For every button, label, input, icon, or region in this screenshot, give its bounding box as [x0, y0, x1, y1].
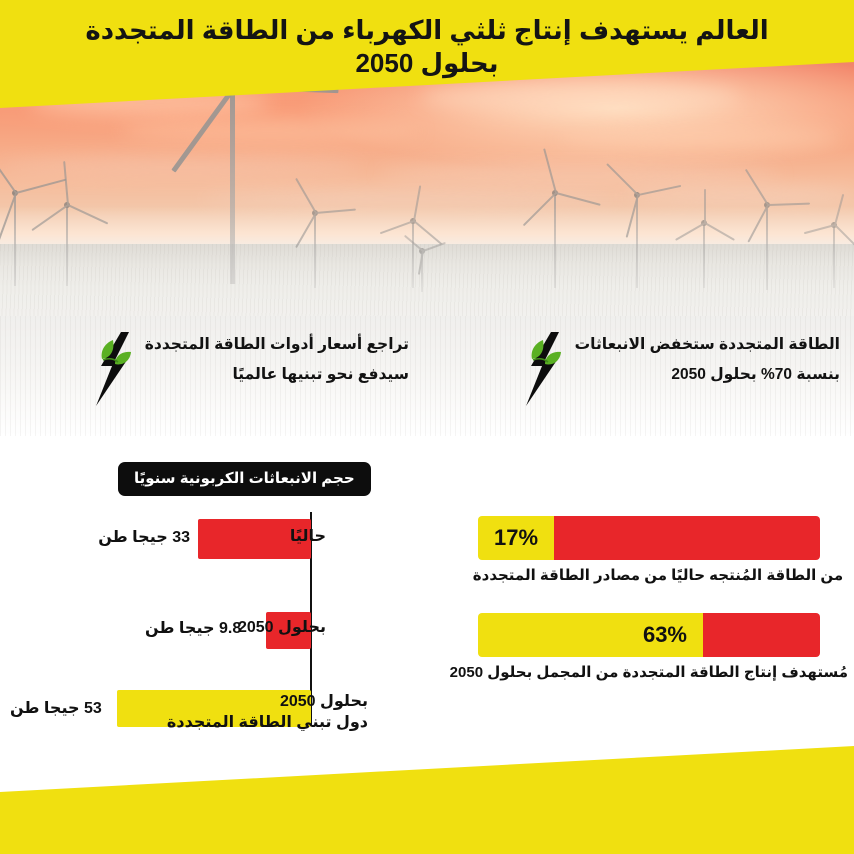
statement-falling-prices: تراجع أسعار أدوات الطاقة المتجددة سيدفع … — [0, 330, 427, 430]
percent-bar-fill: 63% — [478, 613, 703, 657]
emissions-chart-title-pill: حجم الانبعاثات الكربونية سنويًا — [118, 462, 371, 496]
statement-text: تراجع أسعار أدوات الطاقة المتجددة سيدفع … — [145, 330, 409, 390]
wind-turbine — [408, 218, 417, 288]
cloud — [560, 128, 840, 148]
cloud — [380, 166, 780, 182]
emissions-value-2050-renewables: 53 جيجا طن — [10, 698, 110, 718]
wind-turbine — [10, 190, 20, 286]
grass-field — [0, 244, 854, 316]
emissions-value-2050: 9.8 جيجا طن — [145, 618, 255, 638]
lightning-leaf-icon — [91, 332, 135, 406]
percent-bar-track — [703, 613, 820, 657]
wind-turbine — [310, 210, 319, 288]
emissions-value-current: 33 جيجا طن — [100, 527, 190, 547]
cloud — [120, 120, 420, 142]
percent-bar-value: 63% — [627, 622, 703, 648]
wind-turbine — [762, 202, 771, 290]
statement-emissions-reduction: الطاقة المتجددة ستخفض الانبعاثات بنسبة 7… — [427, 330, 854, 430]
percent-bar-fill: 17% — [478, 516, 554, 560]
statement-line-2: بنسبة 70% بحلول 2050 — [575, 360, 840, 390]
statement-line-1: الطاقة المتجددة ستخفض الانبعاثات — [575, 330, 840, 360]
lightning-leaf-icon — [521, 332, 565, 406]
infographic-canvas: العالم يستهدف إنتاج ثلثي الكهرباء من الط… — [0, 0, 854, 854]
percent-bar-target-renewables: 63% — [478, 613, 820, 657]
wind-turbine — [550, 190, 559, 288]
percent-bar-track — [554, 516, 820, 560]
page-title: العالم يستهدف إنتاج ثلثي الكهرباء من الط… — [0, 14, 854, 79]
wind-turbine — [632, 192, 641, 288]
wind-turbine — [225, 84, 239, 284]
statement-text: الطاقة المتجددة ستخفض الانبعاثات بنسبة 7… — [575, 330, 840, 390]
statement-line-1: تراجع أسعار أدوات الطاقة المتجددة — [145, 330, 409, 360]
percent-bar-value: 17% — [478, 525, 554, 551]
cloud — [420, 82, 740, 112]
wind-turbine — [830, 222, 838, 288]
percent-bar-current-renewables: 17% — [478, 516, 820, 560]
percent-bar-caption-current: من الطاقة المُنتجه حاليًا من مصادر الطاق… — [468, 566, 848, 584]
statement-line-2: سيدفع نحو تبنيها عالميًا — [145, 360, 409, 390]
percent-bar-caption-target: مُستهدف إنتاج الطاقة المتجددة من المجمل … — [468, 663, 848, 681]
wind-turbine — [418, 248, 426, 292]
emissions-category-2050-renewables: بحلول 2050 دول تبني الطاقة المتجددة — [138, 692, 368, 734]
wind-turbine — [700, 220, 708, 288]
wind-turbine — [62, 202, 72, 286]
statements-row: الطاقة المتجددة ستخفض الانبعاثات بنسبة 7… — [0, 330, 854, 430]
emissions-category-current: حاليًا — [206, 527, 326, 548]
